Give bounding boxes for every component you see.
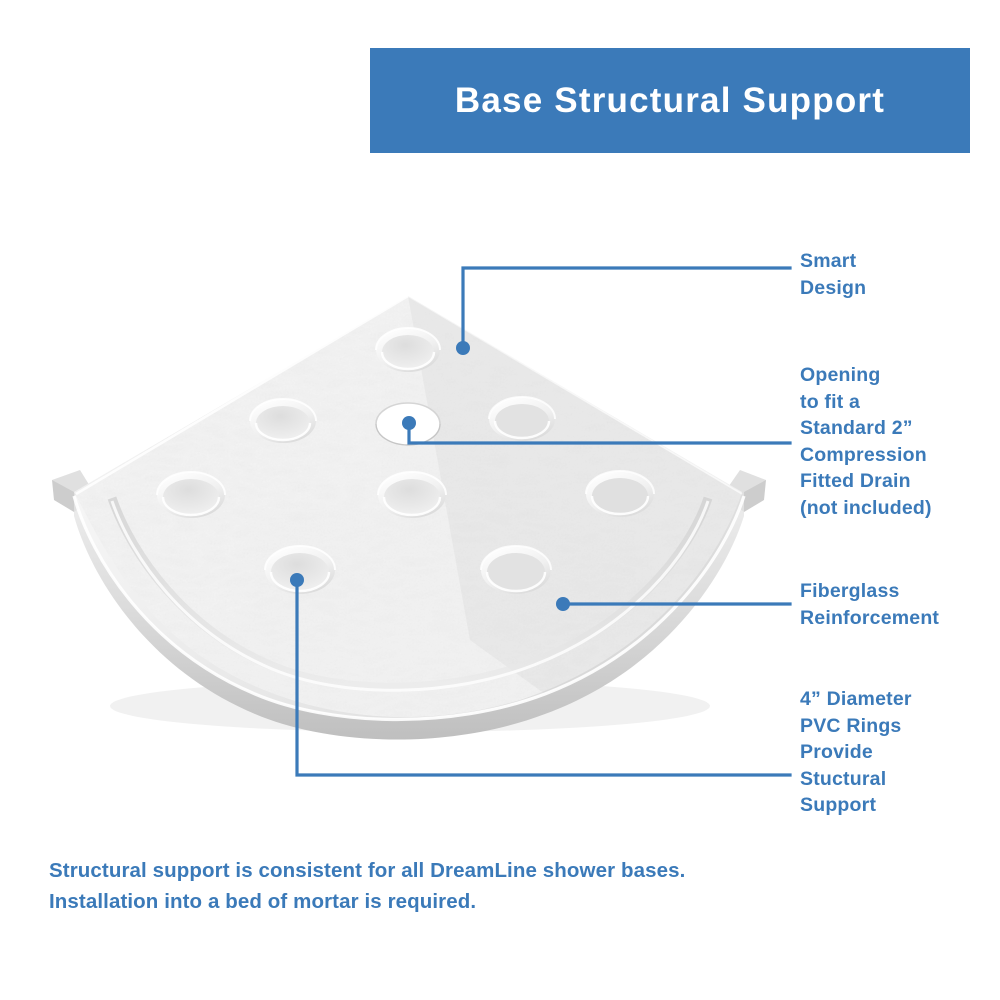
callout-drain-opening: Opening to fit a Standard 2” Compression… (800, 362, 932, 521)
callout-smart-design: Smart Design (800, 248, 866, 301)
pvc-ring (489, 397, 555, 441)
leader-dot-smart-design (456, 341, 470, 355)
callout-fiberglass: Fiberglass Reinforcement (800, 578, 939, 631)
pvc-ring (250, 399, 316, 443)
leader-dot-drain-opening (402, 416, 416, 430)
pvc-ring (378, 472, 446, 518)
pvc-ring (376, 328, 440, 372)
callout-pvc-rings: 4” Diameter PVC Rings Provide Stuctural … (800, 686, 912, 819)
pvc-ring (586, 471, 654, 517)
pvc-ring (157, 472, 225, 518)
product-feature-diagram: Base Structural Support Smart Design Ope… (0, 0, 1000, 1000)
pvc-ring (481, 546, 551, 594)
leader-dot-pvc-rings (290, 573, 304, 587)
title-banner: Base Structural Support (370, 48, 970, 153)
footer-caption: Structural support is consistent for all… (49, 855, 689, 917)
pvc-ring (265, 546, 335, 594)
leader-dot-fiberglass (556, 597, 570, 611)
page-title: Base Structural Support (455, 81, 885, 121)
leader-line-smart-design (463, 268, 790, 348)
